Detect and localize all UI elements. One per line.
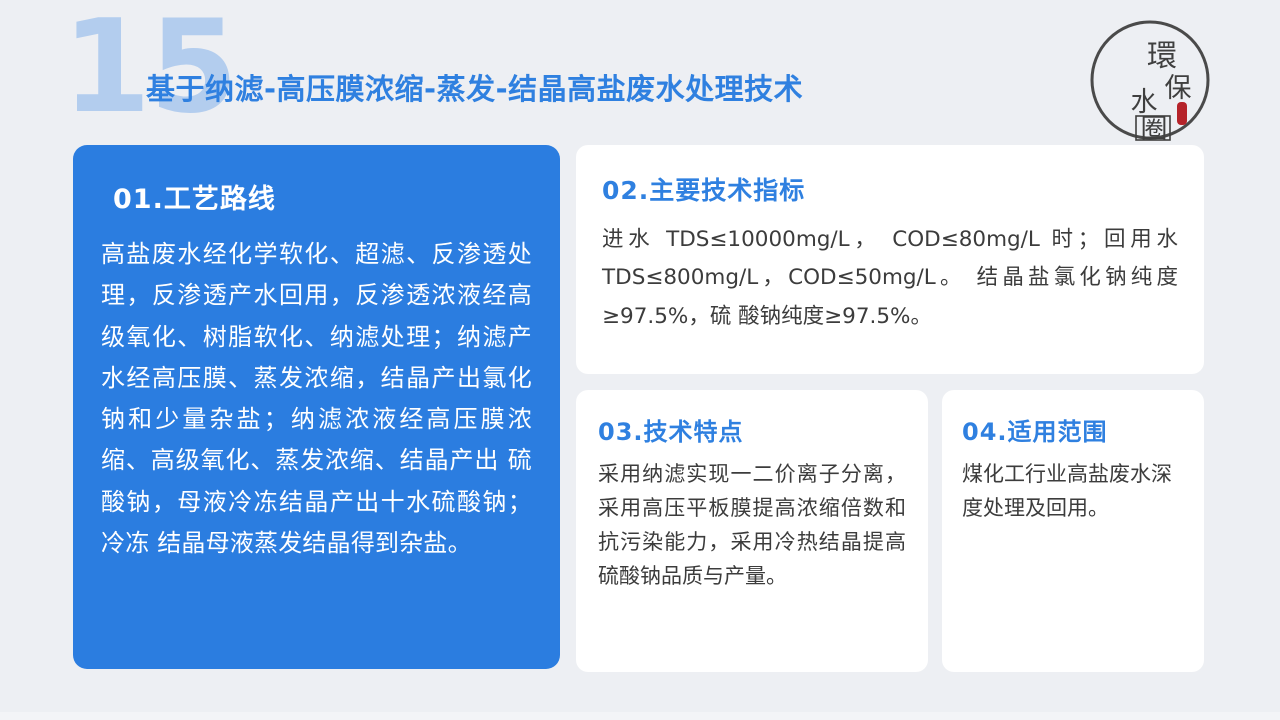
card-process-route-body: 高盐废水经化学软化、超滤、反渗透处理，反渗透产水回用，反渗透浓液经高级氧化、树脂…: [101, 234, 532, 564]
stamp-char-quan: 圈: [1141, 114, 1168, 142]
brand-stamp-logo: 環 保 水 圈: [1088, 18, 1212, 142]
card-technical-features-body: 采用纳滤实现一二价离子分离，采用高压平板膜提高浓缩倍数和抗污染能力，采用冷热结晶…: [598, 457, 906, 593]
card-technical-indicators[interactable]: 02.主要技术指标 进水 TDS≤10000mg/L， COD≤80mg/L 时…: [576, 145, 1204, 374]
card-technical-features-title: 03.技术特点: [598, 412, 906, 447]
card-process-route[interactable]: 01.工艺路线 高盐废水经化学软化、超滤、反渗透处理，反渗透产水回用，反渗透浓液…: [73, 145, 560, 669]
card-application-scope-body: 煤化工行业高盐废水深度处理及回用。: [962, 457, 1184, 525]
card-technical-indicators-body: 进水 TDS≤10000mg/L， COD≤80mg/L 时；回用水 TDS≤8…: [602, 221, 1178, 336]
red-seal-mark: [1177, 102, 1187, 125]
card-technical-indicators-title: 02.主要技术指标: [602, 171, 1178, 207]
stamp-char-huan: 環: [1147, 39, 1177, 74]
card-application-scope-title: 04.适用范围: [962, 412, 1184, 447]
page-title: 基于纳滤-高压膜浓缩-蒸发-结晶高盐废水处理技术: [146, 66, 803, 108]
card-technical-features[interactable]: 03.技术特点 采用纳滤实现一二价离子分离，采用高压平板膜提高浓缩倍数和抗污染能…: [576, 390, 928, 672]
card-application-scope[interactable]: 04.适用范围 煤化工行业高盐废水深度处理及回用。: [942, 390, 1204, 672]
slide-canvas: 15 基于纳滤-高压膜浓缩-蒸发-结晶高盐废水处理技术 環 保 水 圈 01.工…: [0, 0, 1280, 720]
stamp-circle-icon: 環 保 水 圈: [1088, 18, 1212, 142]
bottom-strip: [0, 712, 1280, 720]
stamp-char-bao: 保: [1165, 73, 1192, 104]
card-process-route-title: 01.工艺路线: [113, 177, 534, 216]
